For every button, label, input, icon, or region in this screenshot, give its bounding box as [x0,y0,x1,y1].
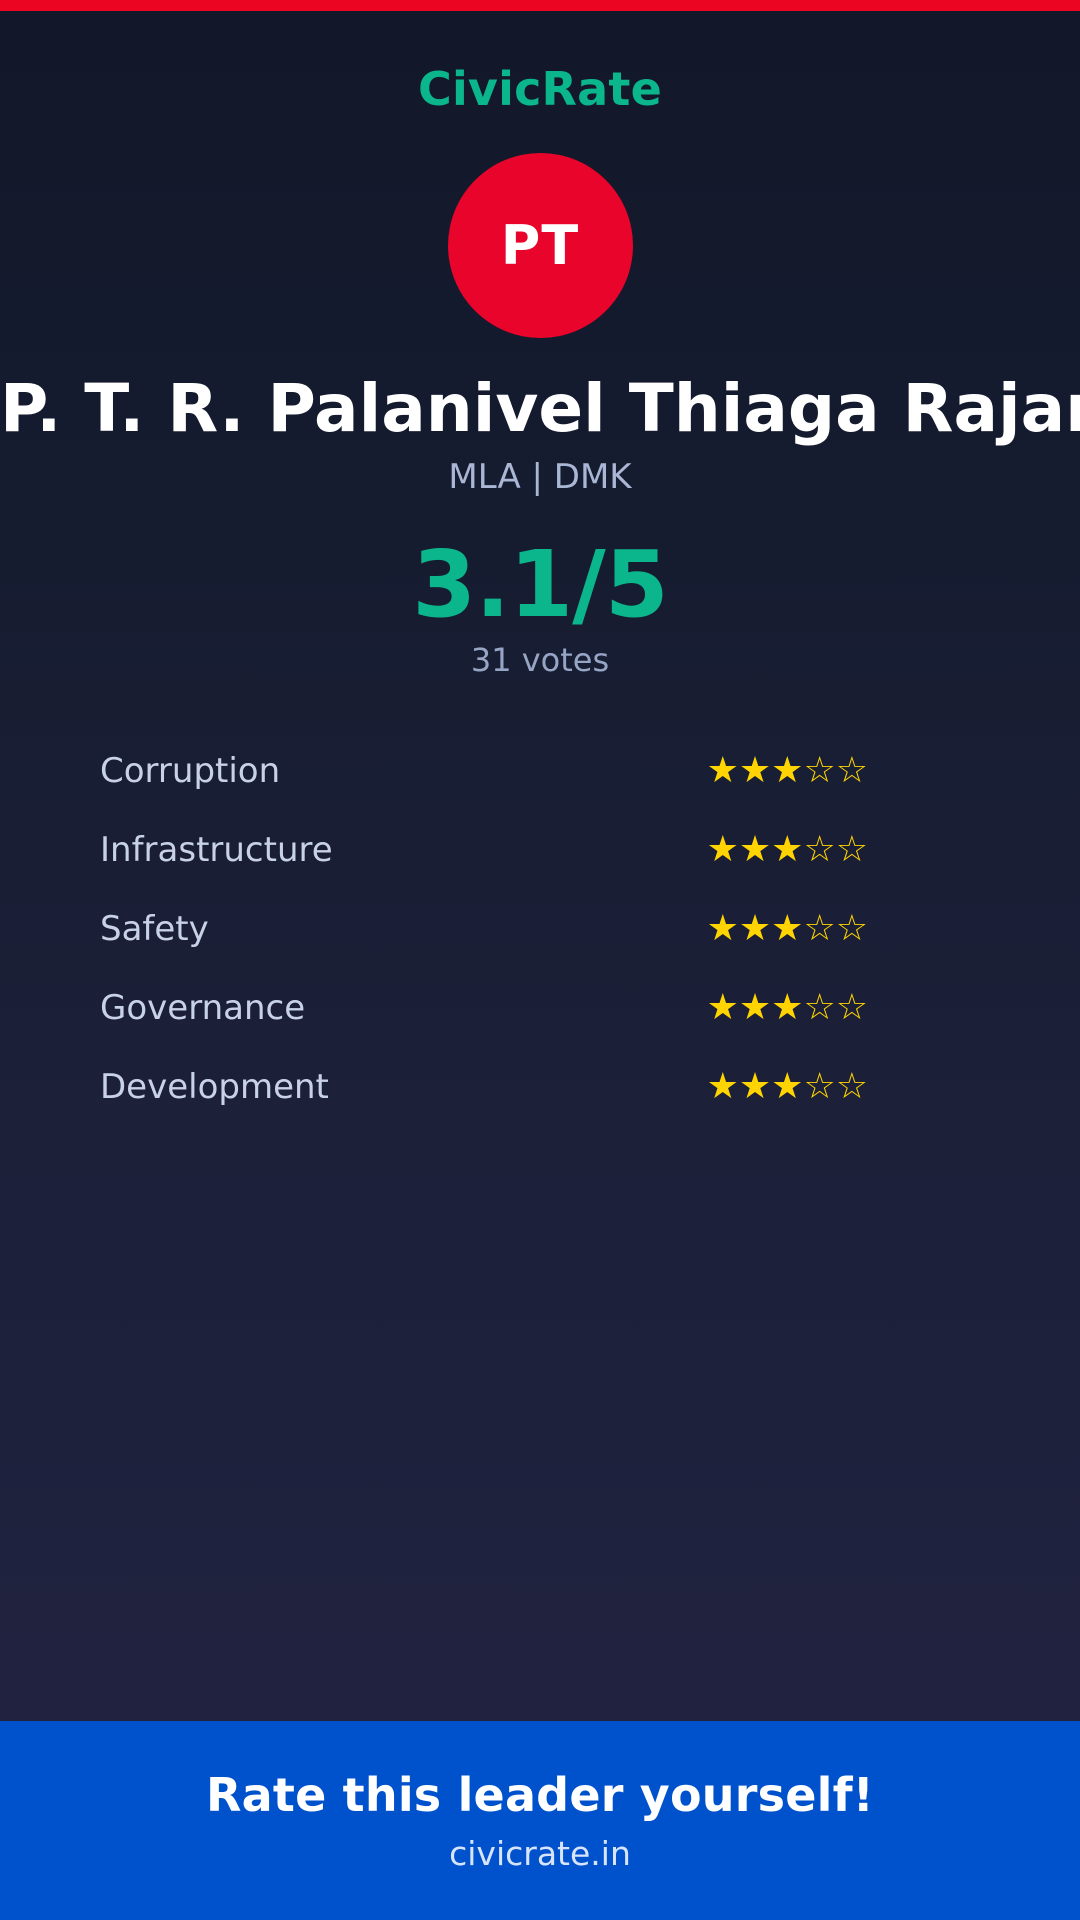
overall-score-block: 3.1/5 31 votes [0,539,1080,679]
avatar: PT [448,153,633,338]
brand-header: CivicRate [0,62,1080,116]
category-ratings-list: Corruption ★★★☆☆ Infrastructure ★★★☆☆ Sa… [0,731,1080,1126]
avatar-container: PT [0,153,1080,338]
rating-row: Infrastructure ★★★☆☆ [100,810,980,889]
rating-label: Infrastructure [100,830,333,870]
brand-title: CivicRate [418,62,662,116]
cta-banner[interactable]: Rate this leader yourself! civicrate.in [0,1721,1080,1920]
overall-score-value: 3.1/5 [0,539,1080,631]
rating-label: Corruption [100,751,280,791]
star-rating-icons: ★★★☆☆ [707,990,868,1026]
rating-row: Safety ★★★☆☆ [100,889,980,968]
civicrate-leader-card: CivicRate PT P. T. R. Palanivel Thiaga R… [0,0,1080,1920]
cta-title: Rate this leader yourself! [206,1768,874,1822]
leader-subtitle: MLA | DMK [0,457,1080,497]
vote-count: 31 votes [0,641,1080,679]
rating-label: Safety [100,909,209,949]
rating-row: Corruption ★★★☆☆ [100,731,980,810]
cta-url[interactable]: civicrate.in [449,1834,631,1873]
rating-label: Governance [100,988,305,1028]
star-rating-icons: ★★★☆☆ [707,832,868,868]
rating-row: Governance ★★★☆☆ [100,968,980,1047]
star-rating-icons: ★★★☆☆ [707,911,868,947]
layout-spacer [0,1126,1080,1721]
avatar-initials: PT [501,214,579,277]
star-rating-icons: ★★★☆☆ [707,753,868,789]
rating-label: Development [100,1067,329,1107]
rating-row: Development ★★★☆☆ [100,1047,980,1126]
leader-name: P. T. R. Palanivel Thiaga Rajan [0,374,1080,443]
star-rating-icons: ★★★☆☆ [707,1069,868,1105]
top-accent-bar [0,0,1080,11]
